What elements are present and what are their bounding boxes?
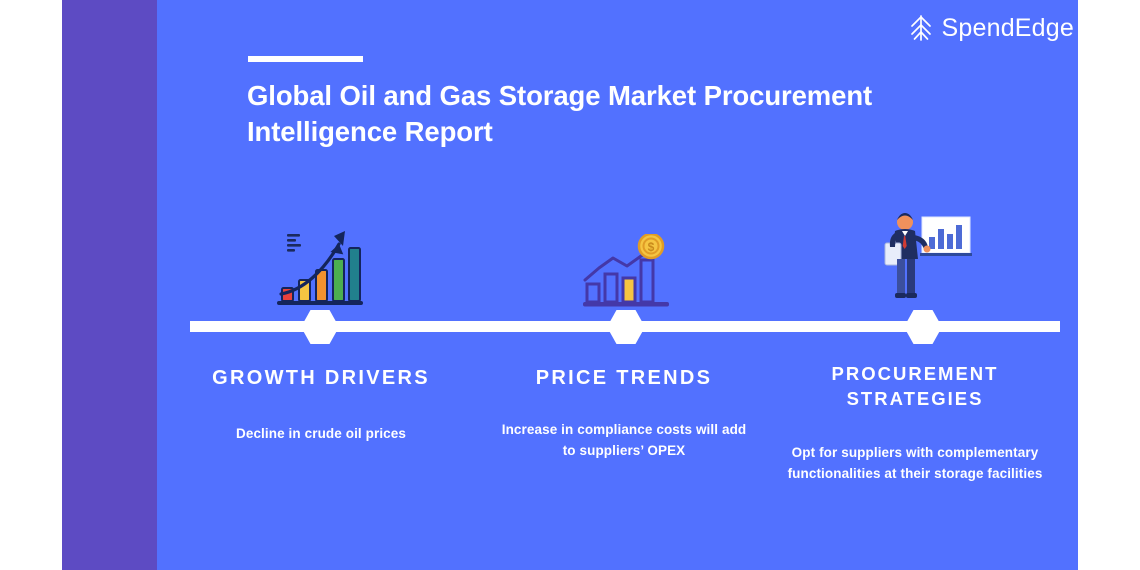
column-price-trends: PRICE TRENDS Increase in compliance cost… (500, 365, 748, 462)
title-accent-bar (248, 56, 363, 62)
presenter-whiteboard-icon (860, 212, 990, 307)
price-chart-coin-icon-svg: $ (583, 234, 669, 310)
growth-bar-chart-arrow-icon (255, 215, 385, 310)
column-3-body: Opt for suppliers with complementary fun… (765, 443, 1065, 485)
left-purple-band (62, 0, 157, 570)
column-2-body: Increase in compliance costs will add to… (500, 420, 748, 462)
column-procurement-strategies: PROCUREMENT STRATEGIES Opt for suppliers… (765, 361, 1065, 485)
spendedge-chevron-logo-mark (908, 14, 934, 42)
column-3-heading: PROCUREMENT STRATEGIES (765, 361, 1065, 411)
column-1-heading: GROWTH DRIVERS (205, 365, 437, 392)
column-2-heading: PRICE TRENDS (500, 365, 748, 392)
brand-logo: SpendEdge (908, 14, 1074, 42)
page-title: Global Oil and Gas Storage Market Procur… (247, 78, 1007, 151)
column-growth-drivers: GROWTH DRIVERS Decline in crude oil pric… (205, 365, 437, 445)
presenter-whiteboard-icon-svg (877, 207, 973, 307)
brand-logo-text: SpendEdge (942, 16, 1074, 41)
slide-canvas: SpendEdge Global Oil and Gas Storage Mar… (0, 0, 1140, 570)
column-1-body: Decline in crude oil prices (205, 424, 437, 445)
svg-text:$: $ (648, 240, 655, 254)
growth-bar-chart-arrow-icon-svg (277, 228, 363, 310)
price-chart-coin-icon: $ (561, 215, 691, 310)
